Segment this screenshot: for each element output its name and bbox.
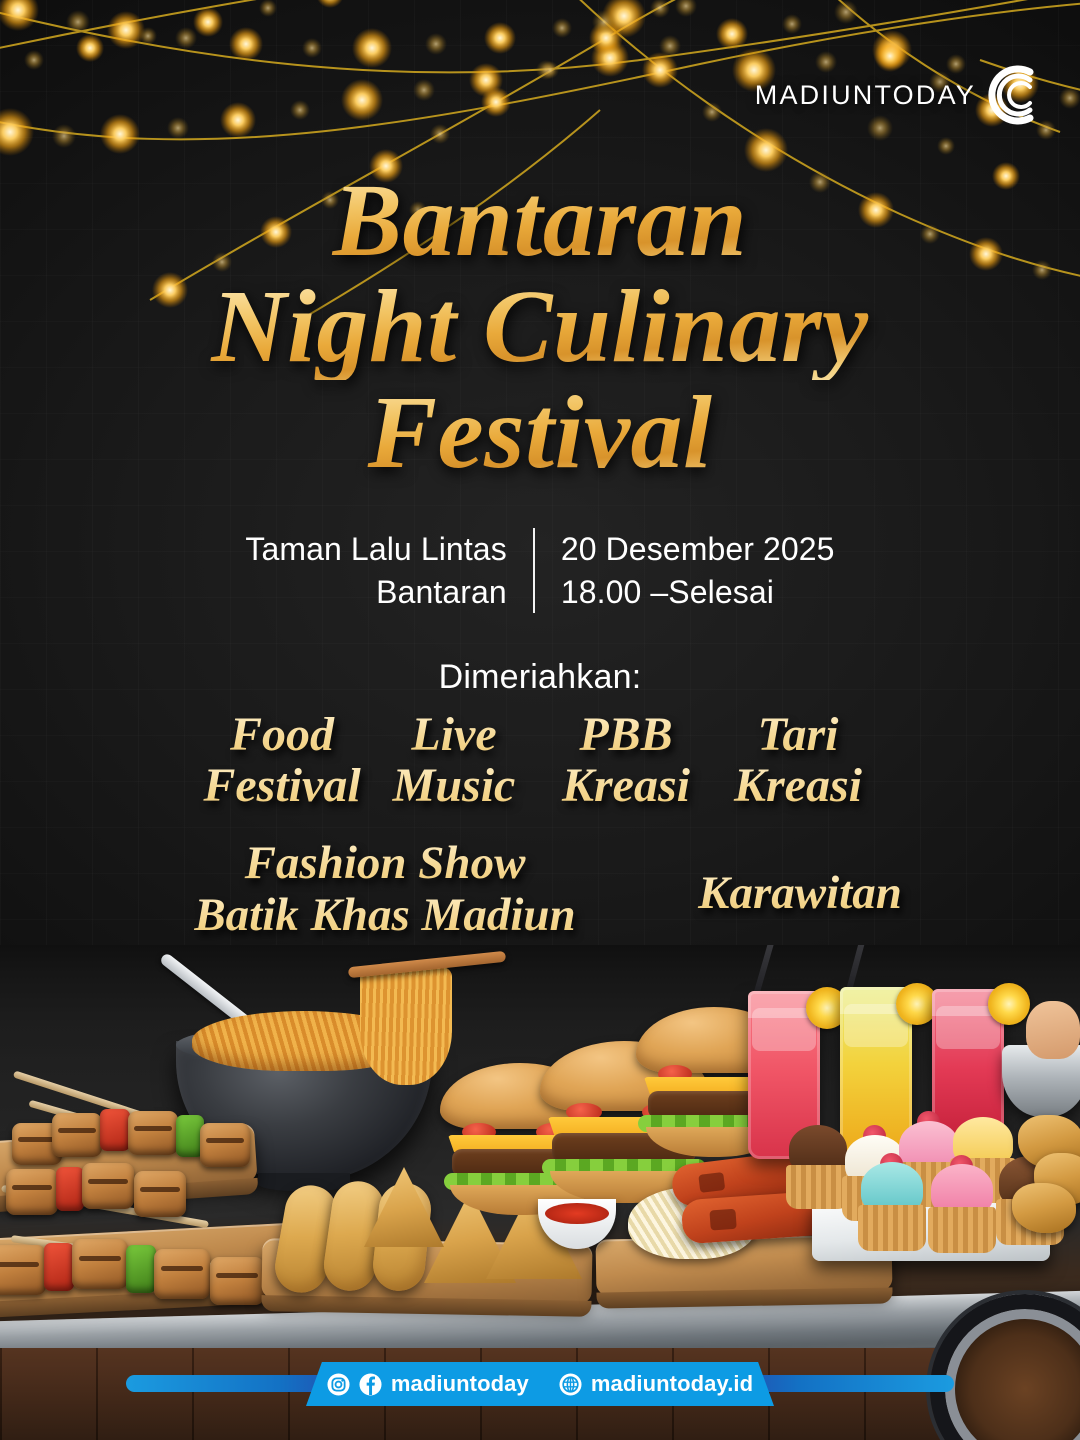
attraction-line-1: Live: [368, 710, 540, 761]
brand-logo: MADIUNTODAY: [755, 62, 1046, 128]
satay-meat: [6, 1169, 58, 1215]
event-date: 20 Desember 2025: [561, 528, 835, 571]
satay-meat: [52, 1113, 102, 1157]
website-url[interactable]: madiuntoday.id: [591, 1371, 753, 1397]
karawitan-label: Karawitan: [660, 868, 940, 920]
attraction-line-1: Tari: [712, 710, 884, 761]
event-info: Taman Lalu Lintas Bantaran 20 Desember 2…: [0, 528, 1080, 613]
footer-banner: madiuntoday madiuntoday.id: [306, 1362, 774, 1406]
bell-pepper-red: [100, 1109, 130, 1151]
venue-block: Taman Lalu Lintas Bantaran: [245, 528, 532, 613]
info-divider: [533, 528, 535, 613]
attraction-line-1: Food: [196, 710, 368, 761]
attraction-line-2: Festival: [196, 761, 368, 812]
swoosh-arcs-icon: [980, 62, 1046, 128]
cupcake-wrapper: [928, 1207, 996, 1253]
attraction-food-festival: Food Festival: [196, 710, 368, 812]
satay-meat: [210, 1257, 264, 1305]
globe-icon[interactable]: [559, 1373, 582, 1396]
attraction-line-2: Kreasi: [540, 761, 712, 812]
bell-pepper-red: [56, 1167, 84, 1211]
fried-chicken: [1012, 1183, 1076, 1233]
attraction-line-1: PBB: [540, 710, 712, 761]
social-handle[interactable]: madiuntoday: [391, 1371, 529, 1397]
satay-meat: [82, 1163, 134, 1209]
cupcake-wrapper: [858, 1205, 926, 1251]
lifted-noodles: [360, 967, 452, 1085]
instagram-icon[interactable]: [327, 1373, 350, 1396]
title-line-3: Festival: [0, 380, 1080, 486]
satay-meat: [128, 1111, 178, 1155]
cupcake-blue: [858, 1169, 926, 1251]
satay-meat: [154, 1249, 210, 1299]
attractions-label: Dimeriahkan:: [0, 658, 1080, 697]
footer-social-bar: madiuntoday madiuntoday.id: [0, 1362, 1080, 1406]
title-line-2: Night Culinary: [0, 274, 1080, 380]
cupcake-chocolate: [786, 1131, 850, 1209]
facebook-icon[interactable]: [359, 1373, 382, 1396]
attraction-live-music: Live Music: [368, 710, 540, 812]
event-time: 18.00 –Selesai: [561, 571, 835, 614]
satay-meat: [0, 1245, 46, 1295]
attraction-pbb-kreasi: PBB Kreasi: [540, 710, 712, 812]
cupcake-rose: [928, 1171, 996, 1253]
page-title: Bantaran Night Culinary Festival: [0, 168, 1080, 486]
bell-pepper-green: [126, 1245, 156, 1293]
logo-wordmark: MADIUNTODAY: [755, 80, 976, 111]
venue-line-1: Taman Lalu Lintas: [245, 528, 506, 571]
attraction-line-2: Music: [368, 761, 540, 812]
attraction-tari-kreasi: Tari Kreasi: [712, 710, 884, 812]
attraction-line-2: Kreasi: [712, 761, 884, 812]
hand: [1026, 1001, 1080, 1059]
attraction-fashion-show: Fashion Show Batik Khas Madiun: [170, 838, 600, 941]
venue-line-2: Bantaran: [245, 571, 506, 614]
fashion-line-1: Fashion Show: [170, 838, 600, 890]
satay-meat: [200, 1123, 250, 1167]
lemon-slice: [988, 983, 1030, 1025]
attractions-row-1: Food Festival Live Music PBB Kreasi Tari…: [0, 710, 1080, 812]
title-line-1: Bantaran: [0, 168, 1080, 274]
attraction-karawitan: Karawitan: [660, 868, 940, 920]
bell-pepper-red: [44, 1243, 74, 1291]
event-poster: MADIUNTODAY Bantaran Night Culinary Fest…: [0, 0, 1080, 1440]
satay-meat: [134, 1171, 186, 1217]
date-time-block: 20 Desember 2025 18.00 –Selesai: [535, 528, 835, 613]
fashion-line-2: Batik Khas Madiun: [170, 890, 600, 942]
cupcake-wrapper: [786, 1165, 850, 1209]
satay-meat: [72, 1239, 128, 1289]
